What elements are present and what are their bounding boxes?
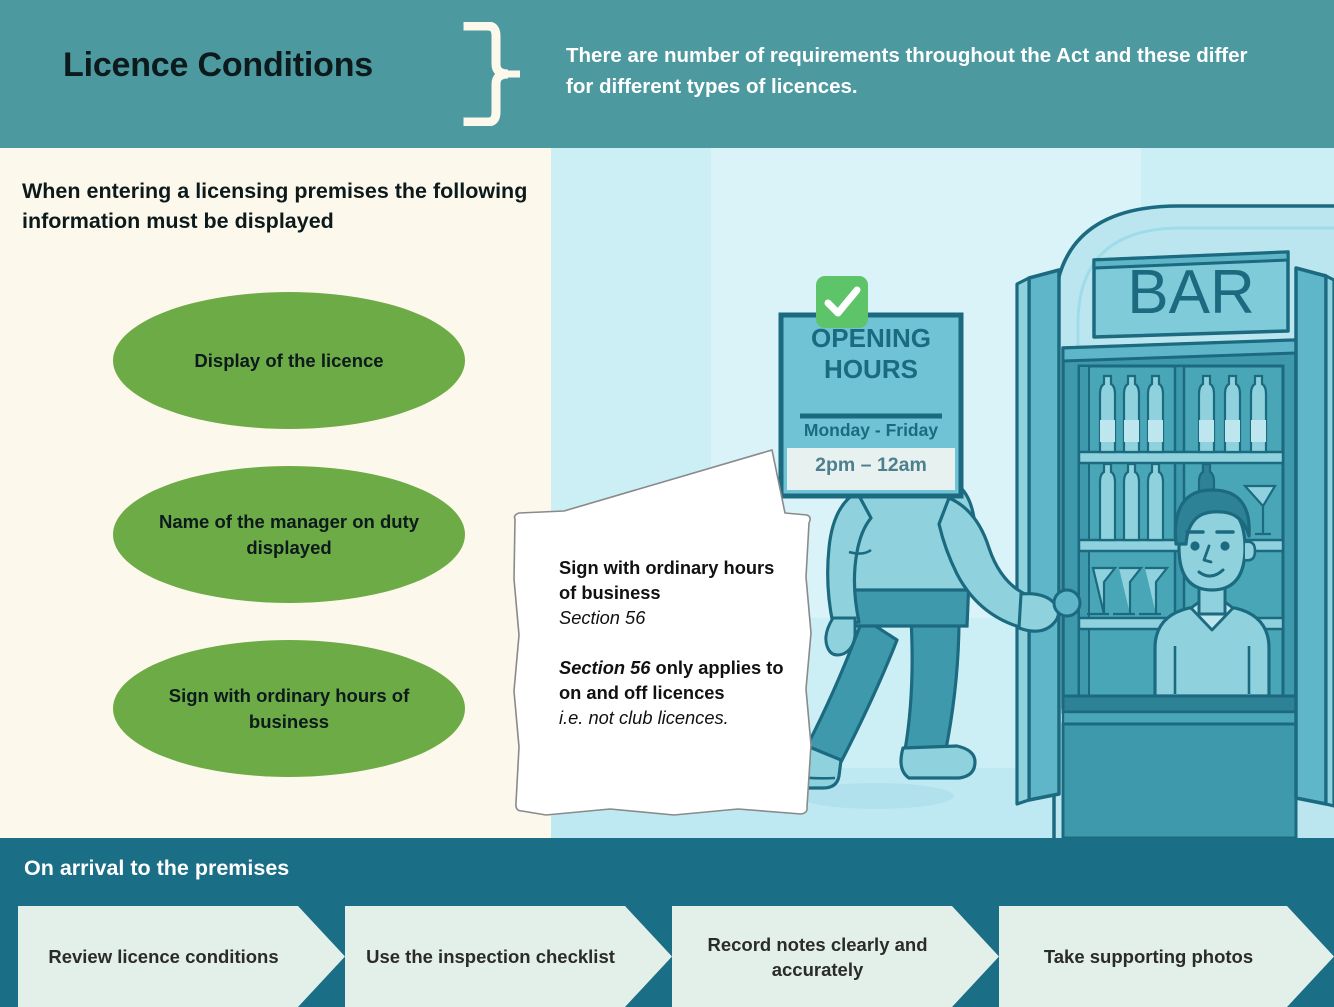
process-step-label: Record notes clearly and accurately (672, 932, 999, 982)
infographic-page: Licence Conditions There are number of r… (0, 0, 1334, 1007)
header-subtitle: There are number of requirements through… (566, 40, 1266, 102)
note-line-3: Section 56 only applies to on and off li… (559, 655, 794, 705)
condition-label: Name of the manager on duty displayed (113, 509, 465, 561)
bar-sign: BAR (1094, 252, 1288, 337)
process-step-label: Take supporting photos (1044, 944, 1289, 969)
left-panel-heading: When entering a licensing premises the f… (22, 176, 542, 236)
curly-brace-icon (462, 22, 522, 126)
process-step-label: Use the inspection checklist (366, 944, 651, 969)
note-line-2: Section 56 (559, 605, 794, 630)
condition-ellipse-manager-name: Name of the manager on duty displayed (113, 466, 465, 603)
page-title: Licence Conditions (63, 46, 373, 85)
bar-counter (1063, 696, 1296, 838)
note-section-strong: Section 56 (559, 657, 650, 678)
note-line-1: Sign with ordinary hours of business (559, 555, 794, 605)
check-mark-icon (815, 275, 869, 329)
process-step-label: Review licence conditions (48, 944, 314, 969)
left-panel: When entering a licensing premises the f… (0, 148, 551, 838)
bottom-bar-title: On arrival to the premises (24, 856, 289, 881)
process-steps: Review licence conditions Use the inspec… (0, 906, 1334, 1007)
bar-sign-text: BAR (1127, 258, 1254, 327)
note-line-4: i.e. not club licences. (559, 705, 794, 730)
condition-ellipse-display-licence: Display of the licence (113, 292, 465, 429)
condition-ellipse-hours-sign: Sign with ordinary hours of business (113, 640, 465, 777)
note-callout-text: Sign with ordinary hours of business Sec… (559, 555, 794, 730)
bottom-bar: On arrival to the premises Review licenc… (0, 838, 1334, 1007)
note-callout: Sign with ordinary hours of business Sec… (510, 437, 815, 822)
process-step-record-notes[interactable]: Record notes clearly and accurately (672, 906, 999, 1007)
opening-hours-title-line1: OPENING HOURS (781, 323, 961, 385)
opening-hours-title-line2: HOURS (781, 354, 961, 385)
process-step-review-conditions[interactable]: Review licence conditions (18, 906, 345, 1007)
process-step-supporting-photos[interactable]: Take supporting photos (999, 906, 1334, 1007)
process-step-inspection-checklist[interactable]: Use the inspection checklist (345, 906, 672, 1007)
condition-label: Sign with ordinary hours of business (113, 683, 465, 735)
condition-label: Display of the licence (160, 348, 417, 374)
header-banner: Licence Conditions There are number of r… (0, 0, 1334, 148)
